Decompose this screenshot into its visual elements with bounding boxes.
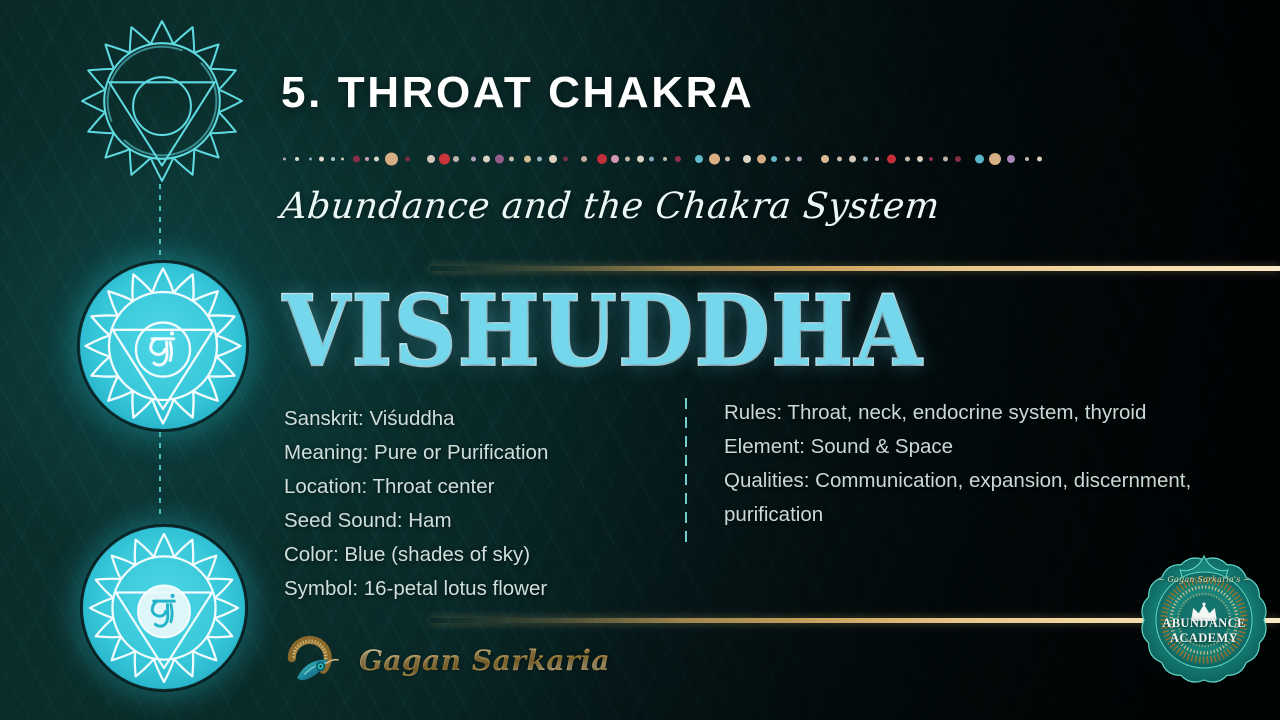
bead bbox=[929, 157, 933, 161]
bead bbox=[524, 156, 531, 163]
bead bbox=[887, 155, 896, 164]
bead bbox=[675, 156, 681, 162]
attributes-left-column: Sanskrit: ViśuddhaMeaning: Pure or Purif… bbox=[284, 402, 684, 606]
bead bbox=[637, 156, 644, 163]
bead bbox=[283, 158, 286, 161]
bead bbox=[1007, 155, 1015, 163]
gold-rule-top bbox=[430, 266, 1280, 271]
brand-name-text: Gagan Sarkaria bbox=[359, 644, 610, 677]
throat-chakra-filled-disc-lower-icon bbox=[78, 522, 250, 694]
bead bbox=[709, 154, 720, 165]
bead bbox=[374, 157, 379, 162]
bead bbox=[309, 158, 312, 161]
bead bbox=[943, 157, 948, 162]
peacock-mandala-logo-icon bbox=[281, 627, 353, 693]
attribute-right-item: Rules: Throat, neck, endocrine system, t… bbox=[724, 396, 1194, 430]
bead bbox=[863, 157, 868, 162]
chakra-name-heading: VISHUDDHA bbox=[283, 284, 923, 380]
slide-canvas: 5. THROAT CHAKRA Abundance and the Chakr… bbox=[0, 0, 1280, 720]
chakra-connector-dashed-line-bottom bbox=[159, 432, 161, 520]
slide-kicker-block: 5. THROAT CHAKRA bbox=[281, 70, 1181, 116]
chakra-symbol-rail bbox=[0, 0, 268, 720]
bead bbox=[365, 157, 369, 161]
bead bbox=[649, 157, 654, 162]
bead bbox=[405, 157, 410, 162]
brand-signature: Gagan Sarkaria bbox=[281, 625, 610, 695]
throat-chakra-outline-lotus-icon bbox=[77, 16, 247, 186]
decorative-bead-divider bbox=[281, 150, 1041, 168]
bead bbox=[849, 156, 856, 163]
attribute-left-item: Location: Throat center bbox=[284, 470, 684, 504]
abundance-academy-badge: ~ Gagan Sarkaria's ~ ABUNDANCE ACADEMY bbox=[1136, 550, 1272, 688]
bead bbox=[597, 154, 607, 164]
bead bbox=[837, 157, 842, 162]
attribute-left-item: Sanskrit: Viśuddha bbox=[284, 402, 684, 436]
bead bbox=[625, 157, 630, 162]
bead bbox=[989, 153, 1001, 165]
attributes-right-column: Rules: Throat, neck, endocrine system, t… bbox=[724, 396, 1194, 532]
bead bbox=[771, 156, 777, 162]
badge-name-text: ABUNDANCE ACADEMY bbox=[1136, 616, 1272, 646]
badge-script-text: ~ Gagan Sarkaria's ~ bbox=[1136, 575, 1272, 584]
bead bbox=[563, 157, 568, 162]
bead bbox=[917, 156, 923, 162]
bead bbox=[581, 156, 587, 162]
bead bbox=[385, 153, 398, 166]
attribute-left-item: Seed Sound: Ham bbox=[284, 504, 684, 538]
bead bbox=[875, 157, 879, 161]
bead bbox=[319, 157, 324, 162]
bead bbox=[975, 155, 984, 164]
slide-subtitle: Abundance and the Chakra System bbox=[279, 186, 942, 227]
throat-chakra-filled-disc-icon bbox=[73, 256, 253, 436]
bead bbox=[797, 157, 802, 162]
bead bbox=[537, 157, 542, 162]
attribute-right-item: Element: Sound & Space bbox=[724, 430, 1194, 464]
bead bbox=[453, 156, 459, 162]
column-divider-dashed-line bbox=[685, 398, 687, 542]
bead bbox=[611, 155, 619, 163]
attribute-left-item: Symbol: 16-petal lotus flower bbox=[284, 572, 684, 606]
bead bbox=[471, 157, 476, 162]
bead bbox=[1025, 157, 1029, 161]
bead bbox=[353, 156, 360, 163]
bead bbox=[955, 156, 961, 162]
bead bbox=[341, 158, 344, 161]
bead bbox=[549, 155, 557, 163]
attribute-left-item: Meaning: Pure or Purification bbox=[284, 436, 684, 470]
bead bbox=[785, 157, 790, 162]
page-title: 5. THROAT CHAKRA bbox=[281, 70, 1181, 116]
bead bbox=[495, 155, 504, 164]
bead bbox=[725, 157, 730, 162]
bead bbox=[295, 157, 299, 161]
attribute-left-item: Color: Blue (shades of sky) bbox=[284, 538, 684, 572]
bead bbox=[743, 155, 751, 163]
bead bbox=[905, 157, 910, 162]
bead bbox=[757, 155, 766, 164]
bead bbox=[483, 156, 490, 163]
bead bbox=[695, 155, 703, 163]
bead bbox=[427, 155, 435, 163]
bead bbox=[663, 157, 667, 161]
attribute-right-item: Qualities: Communication, expansion, dis… bbox=[724, 464, 1194, 532]
bead bbox=[331, 157, 335, 161]
bead bbox=[821, 155, 829, 163]
bead bbox=[439, 154, 450, 165]
bead bbox=[509, 157, 514, 162]
chakra-connector-dashed-line-top bbox=[159, 184, 161, 258]
bead bbox=[1037, 157, 1042, 162]
